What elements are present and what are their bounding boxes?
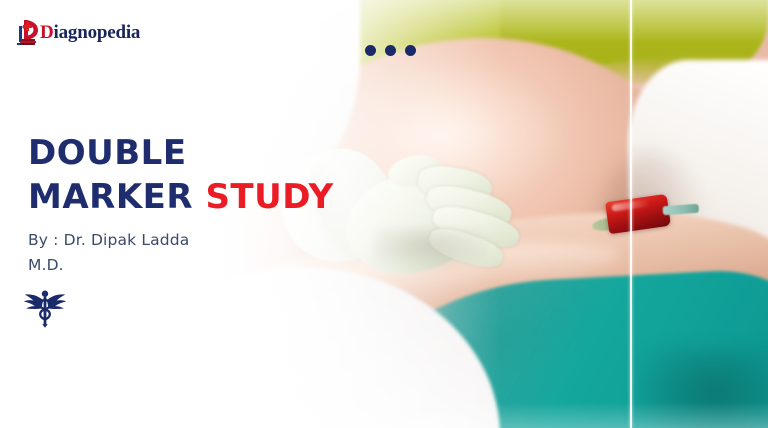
brand-name-rest: iagnopedia <box>54 22 141 43</box>
author-name: By : Dr. Dipak Ladda <box>28 228 189 253</box>
diagnopedia-logo-icon <box>14 17 42 47</box>
title-line-1: DOUBLE <box>28 132 334 176</box>
author-byline: By : Dr. Dipak Ladda M.D. <box>28 228 189 278</box>
glove-shadow <box>374 228 494 274</box>
title-line-2: MARKER STUDY <box>28 176 334 220</box>
caduceus-icon <box>22 288 68 328</box>
brand-initial: D <box>40 22 54 43</box>
author-credential: M.D. <box>28 253 189 278</box>
presentation-slide: Diagnopedia DOUBLE MARKER STUDY By : Dr.… <box>0 0 768 428</box>
dot-1 <box>365 45 376 56</box>
brand-logo[interactable]: Diagnopedia <box>14 17 140 47</box>
dot-3 <box>405 45 416 56</box>
brand-name: Diagnopedia <box>40 23 140 42</box>
title-line-2-primary: MARKER <box>28 177 193 217</box>
three-dots-decoration <box>365 45 416 56</box>
photo-teal-shadow <box>638 348 768 428</box>
title-line-2-accent: STUDY <box>205 177 333 217</box>
page-title: DOUBLE MARKER STUDY <box>28 132 334 219</box>
dot-2 <box>385 45 396 56</box>
